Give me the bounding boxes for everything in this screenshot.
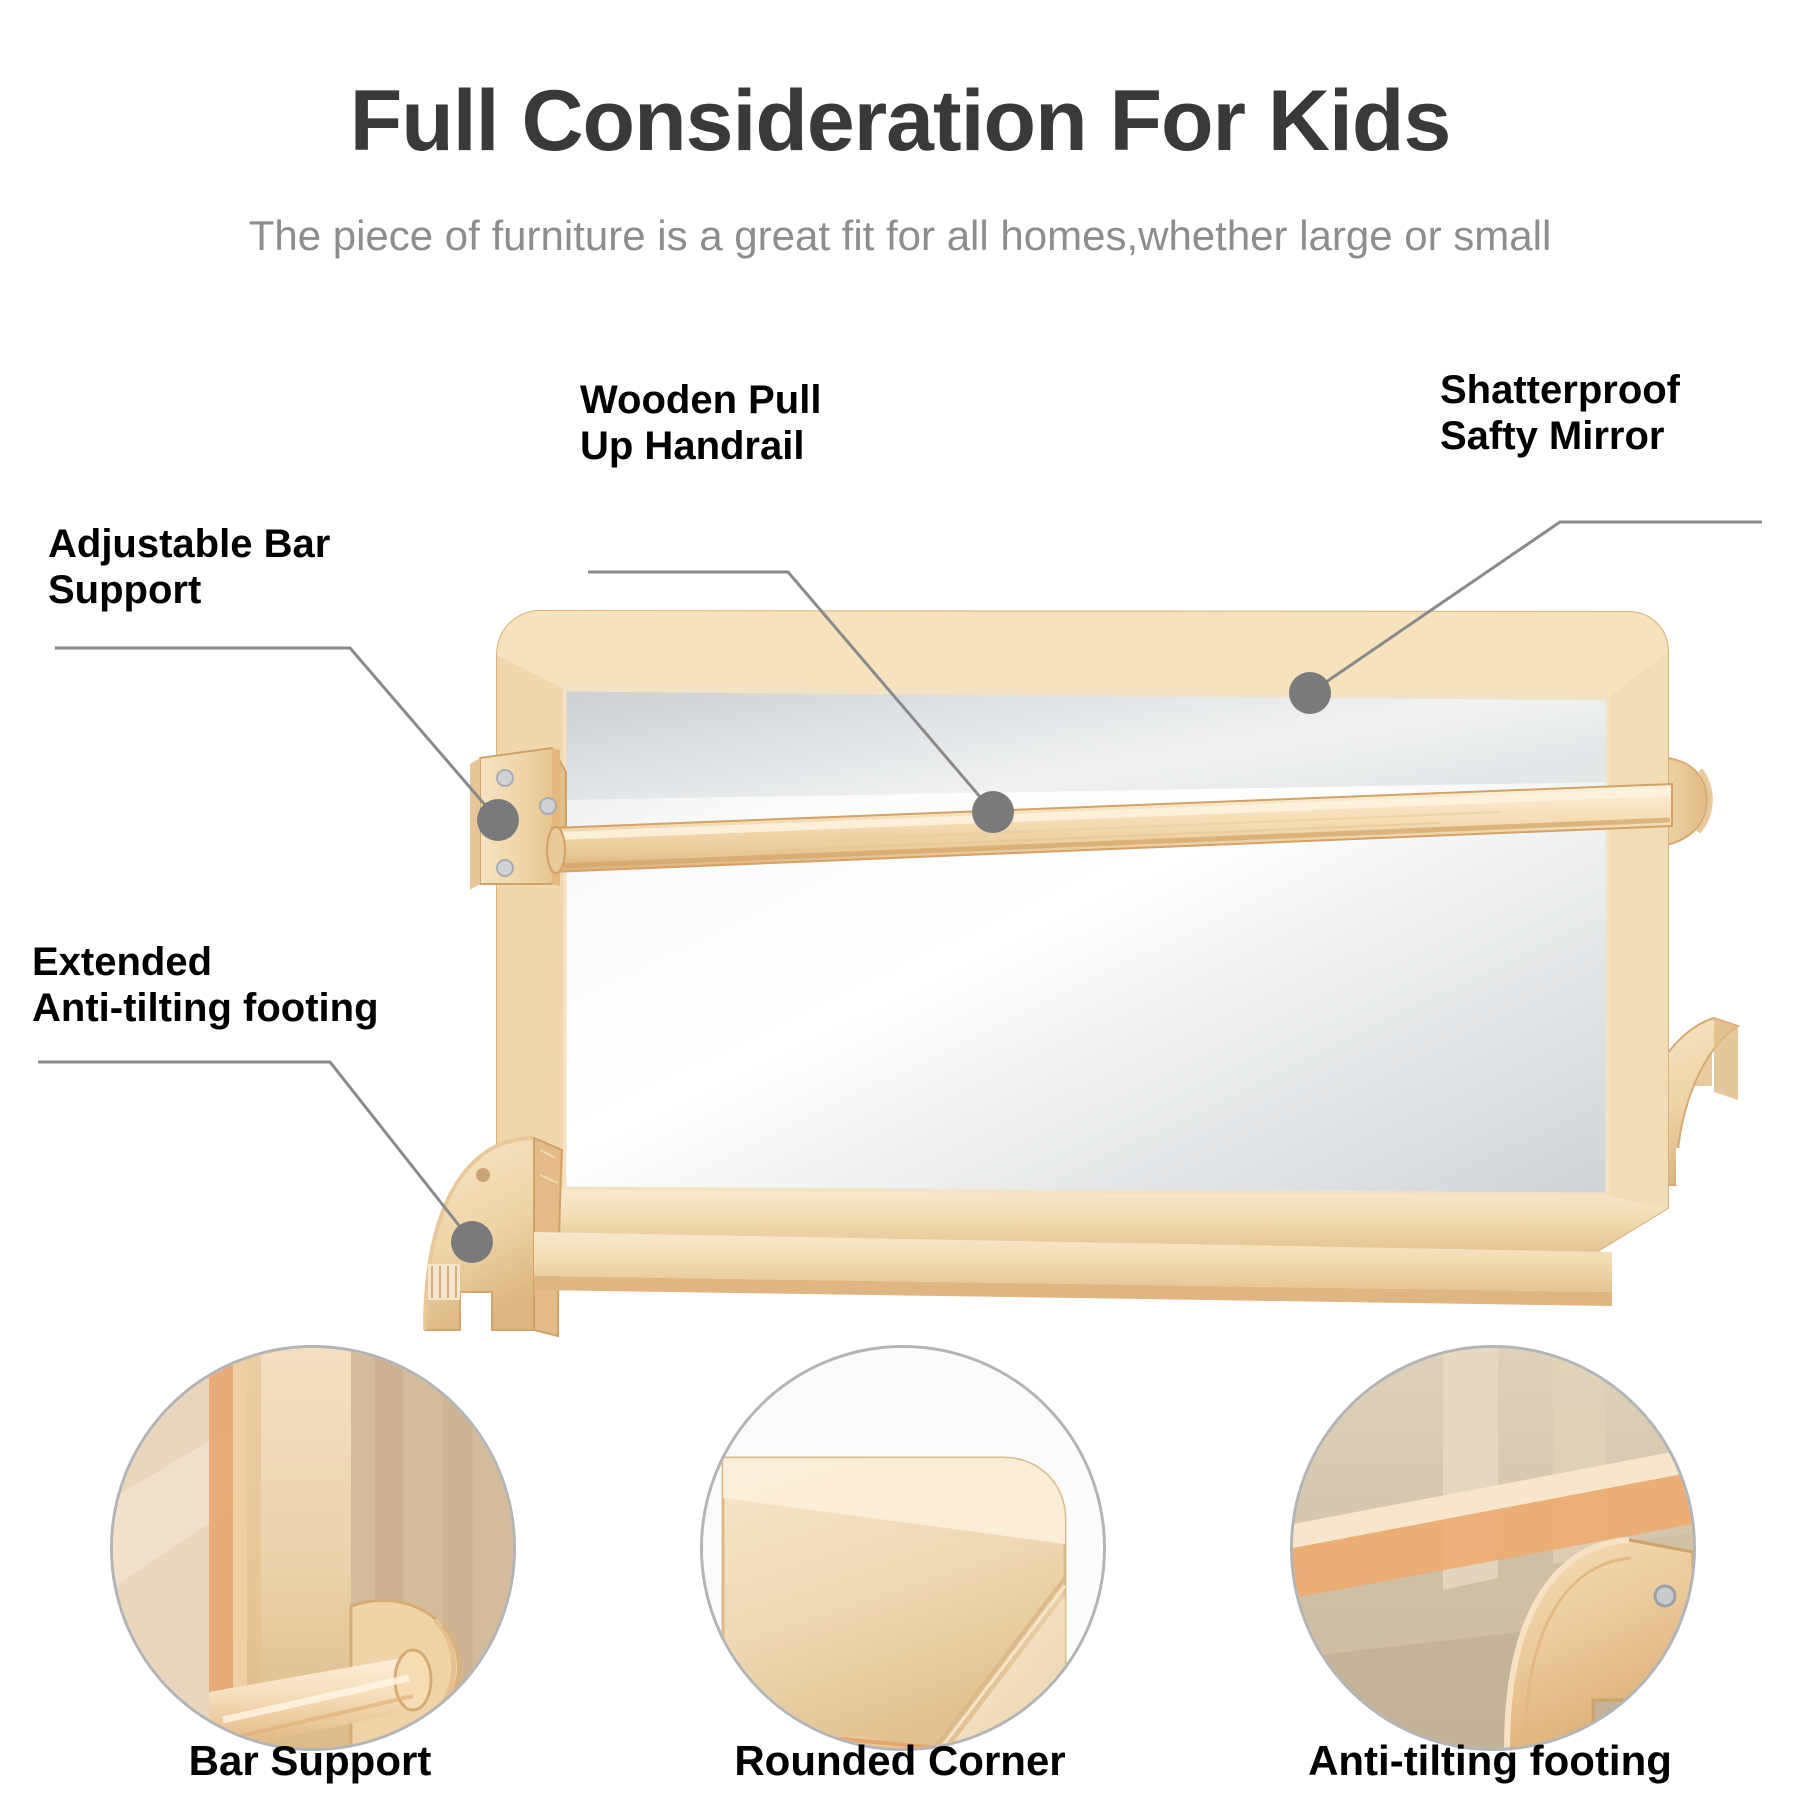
detail-photo-bar-support <box>110 1345 516 1751</box>
detail-caption-bar-support: Bar Support <box>70 1740 550 1782</box>
callout-label-adjustable-bar-support: Adjustable Bar Support <box>48 522 330 613</box>
infographic-canvas: Full Consideration For Kids The piece of… <box>0 0 1800 1800</box>
callout-label-extended-anti-tilting-footing: Extended Anti-tilting footing <box>32 940 379 1031</box>
mirror-frame <box>497 611 1668 1268</box>
detail-caption-rounded-corner: Rounded Corner <box>660 1740 1140 1782</box>
detail-photo-rounded-corner <box>700 1345 1106 1751</box>
callout-label-wooden-pull-up-handrail: Wooden Pull Up Handrail <box>580 378 821 469</box>
detail-photo-anti-tilting-footing <box>1290 1345 1696 1751</box>
callout-label-shatterproof-safty-mirror: Shatterproof Safty Mirror <box>1440 368 1680 459</box>
callout-dot-mirror <box>1289 672 1331 714</box>
callout-dot-extended <box>451 1221 493 1263</box>
callout-dot-handrail <box>972 791 1014 833</box>
detail-caption-anti-tilting-footing: Anti-tilting footing <box>1250 1740 1730 1782</box>
callout-dot-adjustable <box>477 799 519 841</box>
